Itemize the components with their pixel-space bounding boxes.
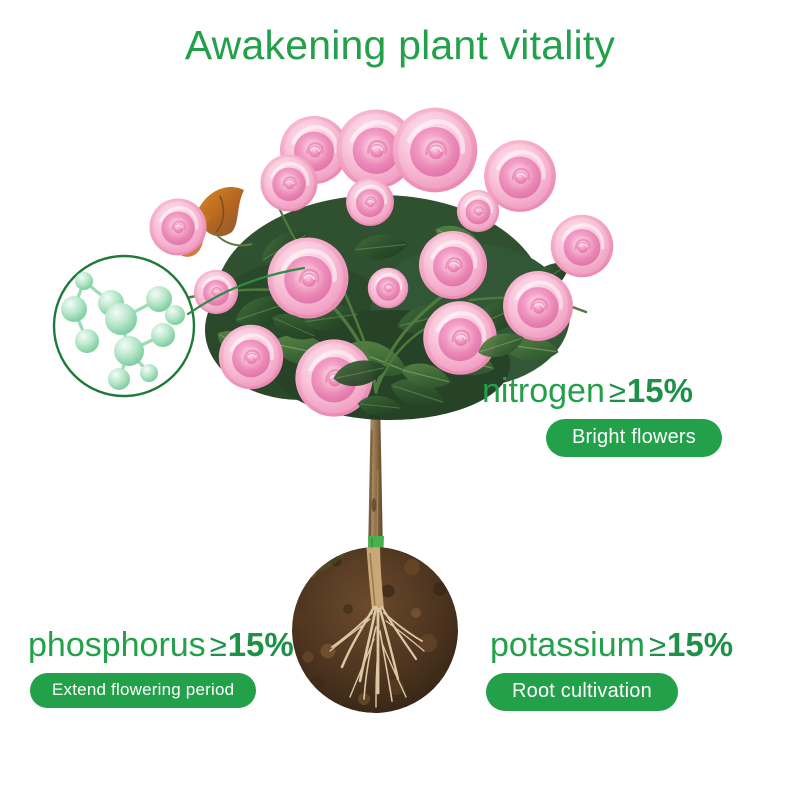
benefit-pill-potassium[interactable]: Root cultivation xyxy=(486,673,678,711)
nutrient-name: nitrogen xyxy=(482,374,605,408)
nutrient-label-potassium: potassium≥15% xyxy=(490,628,733,662)
molecule-leader-line xyxy=(186,262,306,332)
nutrient-block-potassium: potassium≥15% Root cultivation xyxy=(486,628,733,711)
product-poster: Awakening plant vitality xyxy=(0,0,800,800)
nutrient-label-nitrogen: nitrogen≥15% xyxy=(482,374,722,408)
molecule-badge xyxy=(51,253,197,399)
nutrient-value: ≥15% xyxy=(649,628,733,661)
nutrient-block-phosphorus: phosphorus≥15% Extend flowering period xyxy=(24,628,294,708)
dried-leaf xyxy=(168,187,252,257)
benefit-pill-wrap-phosphorus: Extend flowering period xyxy=(30,673,294,708)
nutrient-percent: 15% xyxy=(228,626,294,663)
greater-equal-icon: ≥ xyxy=(649,628,666,663)
nutrient-value: ≥15% xyxy=(609,374,693,407)
plant-trunk xyxy=(368,395,384,560)
soil-root-circle xyxy=(292,547,458,713)
benefit-pill-wrap-potassium: Root cultivation xyxy=(486,673,733,711)
nutrient-label-phosphorus: phosphorus≥15% xyxy=(28,628,294,662)
nutrient-name: phosphorus xyxy=(28,628,206,662)
benefit-pill-phosphorus[interactable]: Extend flowering period xyxy=(30,673,256,708)
nutrient-value: ≥15% xyxy=(210,628,294,661)
page-title: Awakening plant vitality xyxy=(0,22,800,69)
benefit-pill-nitrogen[interactable]: Bright flowers xyxy=(546,419,722,457)
greater-equal-icon: ≥ xyxy=(210,628,227,663)
nutrient-percent: 15% xyxy=(667,626,733,663)
benefit-pill-wrap-nitrogen: Bright flowers xyxy=(546,419,722,457)
greater-equal-icon: ≥ xyxy=(609,374,626,409)
nutrient-percent: 15% xyxy=(627,372,693,409)
nutrient-name: potassium xyxy=(490,628,645,662)
nutrient-block-nitrogen: nitrogen≥15% Bright flowers xyxy=(482,374,722,457)
